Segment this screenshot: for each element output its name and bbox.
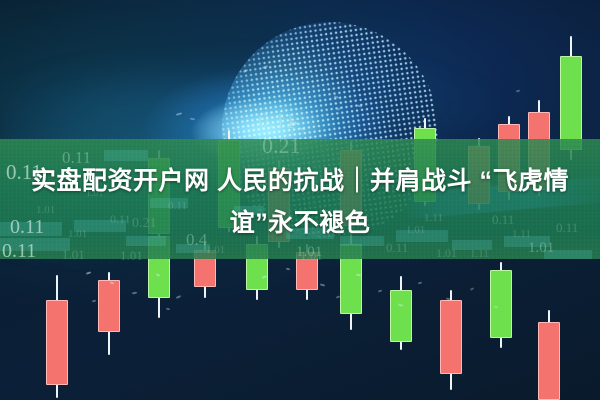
page-title: 实盘配资开户网 人民的抗战｜并肩战斗 “飞虎情 谊”永不褪色 — [0, 160, 600, 244]
floating-number: 1.01 — [120, 248, 143, 264]
headline-line-2: 谊”永不褪色 — [0, 202, 600, 244]
floating-number: 0.21 — [262, 133, 301, 159]
floating-number: 1.11 — [470, 248, 489, 260]
floating-number: 1.01 — [296, 244, 322, 261]
floating-number: 1.01 — [300, 248, 323, 264]
floating-number: 1.01 — [436, 246, 457, 261]
floating-number: 0.11 — [258, 108, 296, 134]
banner-image: 0.110.210.110.111.010.110.111.011.010.11… — [0, 0, 600, 400]
floating-number: 1.01 — [206, 244, 225, 256]
floating-number: 1.01 — [62, 247, 85, 263]
headline-line-1: 实盘配资开户网 人民的抗战｜并肩战斗 “飞虎情 — [31, 167, 569, 195]
